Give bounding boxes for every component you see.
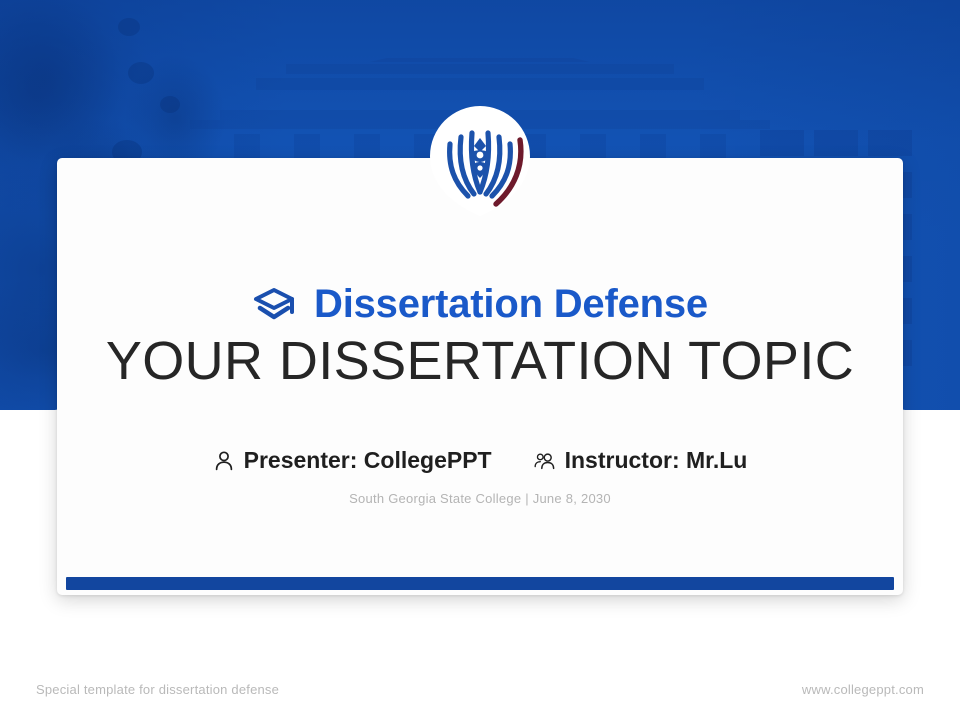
footer-left-text: Special template for dissertation defens… xyxy=(36,682,279,697)
graduation-cap-icon xyxy=(252,286,296,322)
foliage-speck xyxy=(128,62,154,84)
eyebrow-heading: Dissertation Defense xyxy=(252,283,708,325)
instructor-label: Instructor: Mr.Lu xyxy=(565,447,748,474)
title-card-content: Dissertation Defense YOUR DISSERTATION T… xyxy=(57,158,903,569)
footer-right-text: www.collegeppt.com xyxy=(802,682,924,697)
credits-row: Presenter: CollegePPT Instructor: Mr.Lu xyxy=(213,447,748,474)
presentation-slide: Dissertation Defense YOUR DISSERTATION T… xyxy=(0,0,960,720)
card-accent-bar xyxy=(66,577,894,590)
instructor-credit: Instructor: Mr.Lu xyxy=(534,447,748,474)
presenter-credit: Presenter: CollegePPT xyxy=(213,447,492,474)
single-person-icon xyxy=(213,450,235,472)
foliage-speck xyxy=(160,96,180,113)
slide-footer: Special template for dissertation defens… xyxy=(0,658,960,720)
venue-and-date: South Georgia State College | June 8, 20… xyxy=(349,491,611,506)
university-crest-logo xyxy=(424,104,536,216)
page-title: YOUR DISSERTATION TOPIC xyxy=(106,331,854,391)
eyebrow-label: Dissertation Defense xyxy=(314,283,708,325)
foliage-speck xyxy=(118,18,140,36)
two-people-icon xyxy=(534,450,556,472)
presenter-label: Presenter: CollegePPT xyxy=(244,447,492,474)
title-card: Dissertation Defense YOUR DISSERTATION T… xyxy=(57,158,903,595)
